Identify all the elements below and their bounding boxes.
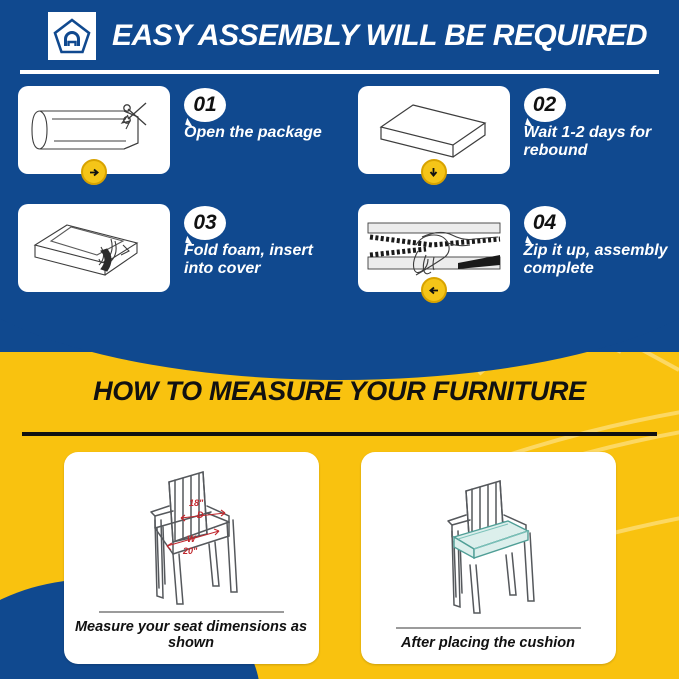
step-01-number-badge: 01 <box>184 88 226 122</box>
step-02-label: Wait 1-2 days for rebound <box>524 124 679 160</box>
step-02-illustration-card <box>358 86 510 174</box>
step-02-number-badge: 02 <box>524 88 566 122</box>
chair-dimensions-art: 18" D W 20" <box>64 452 319 611</box>
step-01: 01 Open the package <box>0 86 340 198</box>
step-04: 04 Zip it up, assembly complete <box>340 204 679 316</box>
step-04-illustration-card <box>358 204 510 292</box>
step-01-text: 01 Open the package <box>184 86 322 142</box>
measure-card-1-caption: Measure your seat dimensions as shown <box>64 619 319 664</box>
step-03-illustration-card <box>18 204 170 292</box>
foam-fold-into-cover-icon <box>27 211 161 285</box>
chair-cushion-art <box>361 452 616 627</box>
measure-card-1-divider <box>99 611 284 613</box>
measure-section-title: HOW TO MEASURE YOUR FURNITURE <box>0 376 679 407</box>
dimension-label-width-letter: W <box>187 534 197 544</box>
hand-zipping-icon <box>362 209 506 287</box>
measure-card-cushion: After placing the cushion <box>361 452 616 664</box>
page-title: EASY ASSEMBLY WILL BE REQUIRED <box>112 19 647 53</box>
step-02-text: 02 Wait 1-2 days for rebound <box>524 86 679 160</box>
dimension-label-depth-letter: D <box>197 510 204 520</box>
chair-with-seat-cushion-icon <box>404 465 572 615</box>
chair-with-dimension-markings-icon: 18" D W 20" <box>107 456 275 606</box>
measure-card-2-caption: After placing the cushion <box>393 635 583 664</box>
step-03-text: 03 Fold foam, insert into cover <box>184 204 340 278</box>
dimension-label-width-value: 20" <box>182 546 198 556</box>
measure-cards: 18" D W 20" Measure your seat dimensions… <box>0 452 679 667</box>
house-pentagon-logo-icon <box>48 12 96 60</box>
step-03-number-badge: 03 <box>184 206 226 240</box>
step-03: 03 Fold foam, insert into cover <box>0 204 340 316</box>
step-01-illustration-card <box>18 86 170 174</box>
step-04-arrow-left-icon <box>421 277 447 303</box>
assembly-section: EASY ASSEMBLY WILL BE REQUIRED <box>0 0 679 352</box>
step-04-text: 04 Zip it up, assembly complete <box>524 204 679 278</box>
flat-foam-slab-icon <box>369 93 499 167</box>
header-divider <box>20 70 659 74</box>
measure-title-divider <box>22 432 657 436</box>
measure-card-dimensions: 18" D W 20" Measure your seat dimensions… <box>64 452 319 664</box>
rolled-package-icon <box>24 93 164 167</box>
step-04-number-badge: 04 <box>524 206 566 240</box>
header: EASY ASSEMBLY WILL BE REQUIRED <box>0 8 679 64</box>
step-01-label: Open the package <box>184 124 322 142</box>
measure-card-2-divider <box>396 627 581 629</box>
step-02: 02 Wait 1-2 days for rebound <box>340 86 679 198</box>
step-02-arrow-down-icon <box>421 159 447 185</box>
step-03-label: Fold foam, insert into cover <box>184 242 340 278</box>
step-04-label: Zip it up, assembly complete <box>524 242 679 278</box>
assembly-steps: 01 Open the package 02 W <box>0 86 679 316</box>
dimension-label-depth-value: 18" <box>189 498 204 508</box>
step-01-arrow-right-icon <box>81 159 107 185</box>
